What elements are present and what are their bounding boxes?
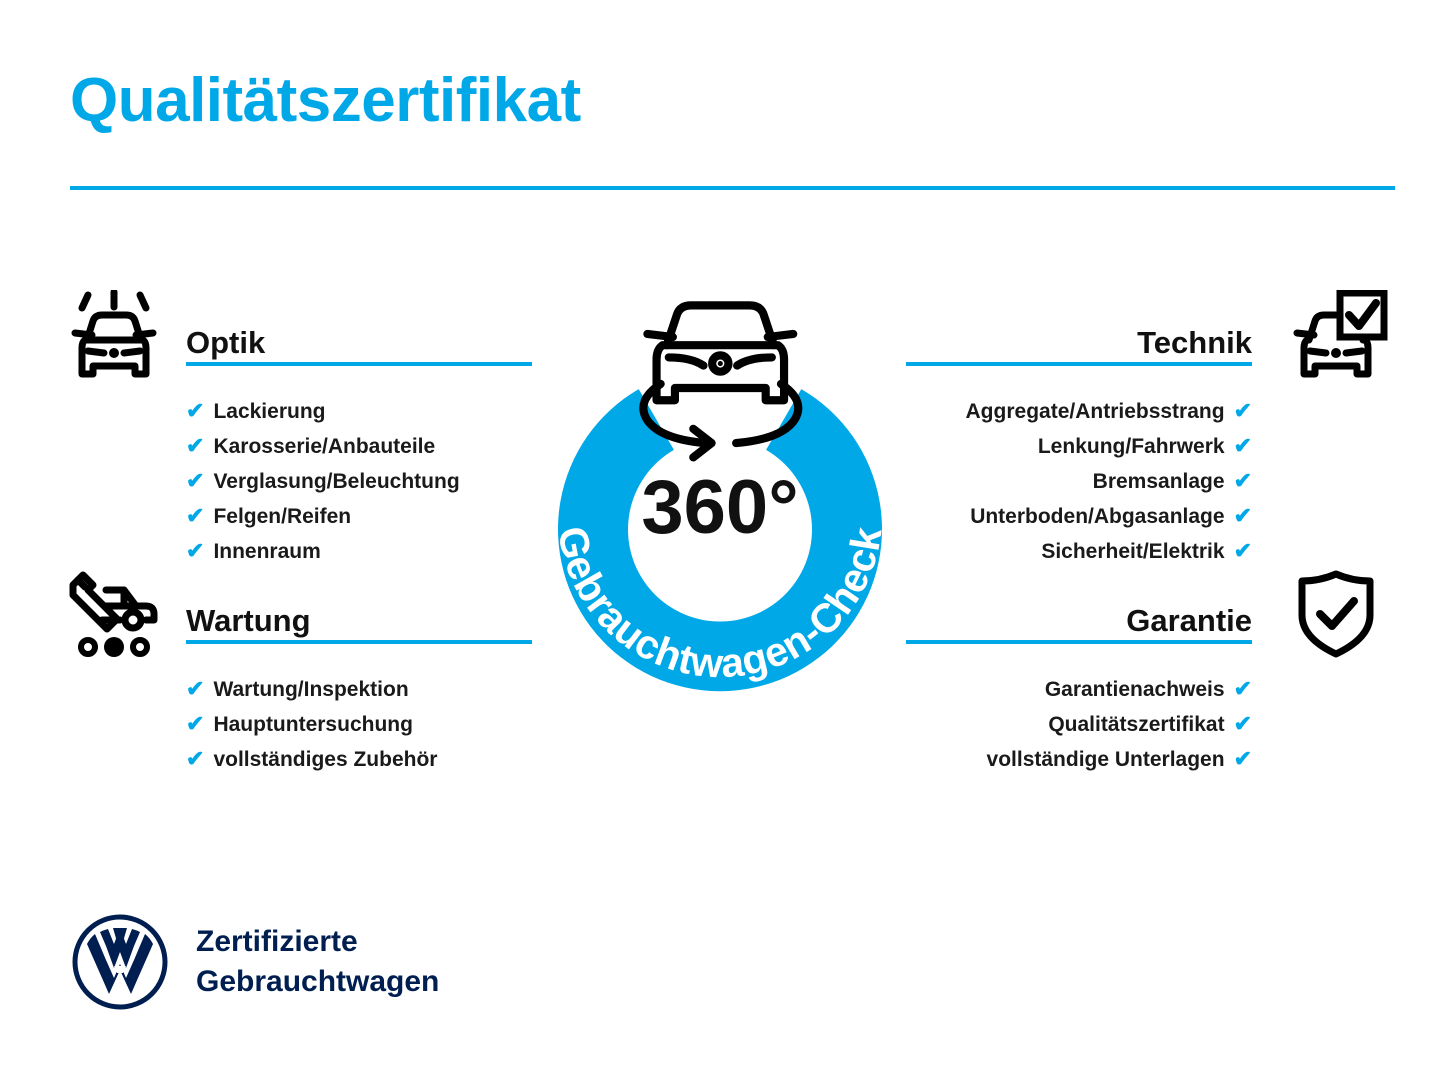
check-item: vollständige Unterlagen ✔ xyxy=(906,742,1252,777)
check-item: ✔ Innenraum xyxy=(186,534,532,569)
badge-center-label: 360° xyxy=(641,465,798,550)
check-icon: ✔ xyxy=(186,429,204,463)
check-icon: ✔ xyxy=(1234,429,1252,463)
header-divider xyxy=(70,186,1395,190)
section-divider xyxy=(906,362,1252,366)
certificate-page: Qualitätszertifikat xyxy=(0,0,1440,1080)
check-item: ✔ vollständiges Zubehör xyxy=(186,742,532,777)
section-optik: Optik ✔ Lackierung ✔ Karosserie/Anbautei… xyxy=(62,290,532,569)
check-item: Aggregate/Antriebsstrang ✔ xyxy=(906,394,1252,429)
page-title: Qualitätszertifikat xyxy=(70,68,581,133)
section-title: Technik xyxy=(1137,327,1252,358)
check-label: Lackierung xyxy=(213,395,325,429)
check-item: Unterboden/Abgasanlage ✔ xyxy=(906,499,1252,534)
check-label: Lenkung/Fahrwerk xyxy=(1038,430,1225,464)
check-list-garantie: Garantienachweis ✔ Qualitätszertifikat ✔… xyxy=(906,672,1388,777)
check-icon: ✔ xyxy=(1234,672,1252,706)
check-item: ✔ Karosserie/Anbauteile xyxy=(186,429,532,464)
section-header-optik: Optik xyxy=(62,290,532,386)
check-label: Innenraum xyxy=(213,535,320,569)
vw-wordmark-line1: Zertifizierte xyxy=(196,922,439,962)
section-divider xyxy=(186,640,532,644)
check-icon: ✔ xyxy=(186,499,204,533)
vw-brand-lockup: Zertifizierte Gebrauchtwagen xyxy=(70,912,439,1012)
section-header-wartung: Wartung xyxy=(62,568,532,664)
check-icon: ✔ xyxy=(1234,394,1252,428)
check-item: Sicherheit/Elektrik ✔ xyxy=(906,534,1252,569)
check-item: Bremsanlage ✔ xyxy=(906,464,1252,499)
check-item: Qualitätszertifikat ✔ xyxy=(906,707,1252,742)
check-list-optik: ✔ Lackierung ✔ Karosserie/Anbauteile ✔ V… xyxy=(62,394,532,569)
check-item: ✔ Wartung/Inspektion xyxy=(186,672,532,707)
check-item: Lenkung/Fahrwerk ✔ xyxy=(906,429,1252,464)
check-icon: ✔ xyxy=(186,707,204,741)
car-service-tool-icon xyxy=(62,568,166,660)
check-icon: ✔ xyxy=(186,742,204,776)
section-garantie: Garantie Garantienachweis ✔ Qualitätszer… xyxy=(906,568,1388,777)
check-list-technik: Aggregate/Antriebsstrang ✔ Lenkung/Fahrw… xyxy=(906,394,1388,569)
section-header-garantie: Garantie xyxy=(906,568,1388,664)
section-title: Garantie xyxy=(1126,605,1252,636)
check-item: ✔ Felgen/Reifen xyxy=(186,499,532,534)
check-icon: ✔ xyxy=(186,534,204,568)
check-label: vollständige Unterlagen xyxy=(987,743,1225,777)
check-item: ✔ Hauptuntersuchung xyxy=(186,707,532,742)
check-icon: ✔ xyxy=(1234,534,1252,568)
check-label: Felgen/Reifen xyxy=(213,500,351,534)
check-label: Garantienachweis xyxy=(1045,673,1225,707)
car-shine-icon xyxy=(62,290,166,382)
check-label: Unterboden/Abgasanlage xyxy=(970,500,1224,534)
check-label: Verglasung/Beleuchtung xyxy=(213,465,459,499)
check-label: Bremsanlage xyxy=(1093,465,1225,499)
vw-wordmark-line2: Gebrauchtwagen xyxy=(196,962,439,1002)
check-icon: ✔ xyxy=(1234,499,1252,533)
check-label: Karosserie/Anbauteile xyxy=(213,430,435,464)
car-rotate-icon xyxy=(643,305,798,457)
section-divider xyxy=(186,362,532,366)
check-item: ✔ Lackierung xyxy=(186,394,532,429)
section-technik: Technik Aggregate/Antriebsstrang ✔ Lenku… xyxy=(906,290,1388,569)
check-item: ✔ Verglasung/Beleuchtung xyxy=(186,464,532,499)
check-icon: ✔ xyxy=(186,464,204,498)
check-icon: ✔ xyxy=(1234,707,1252,741)
section-header-technik: Technik xyxy=(906,290,1388,386)
section-divider xyxy=(906,640,1252,644)
360-check-badge: Gebrauchtwagen-Check 360° xyxy=(520,278,920,698)
check-label: Aggregate/Antriebsstrang xyxy=(966,395,1225,429)
check-item: Garantienachweis ✔ xyxy=(906,672,1252,707)
check-icon: ✔ xyxy=(1234,464,1252,498)
check-icon: ✔ xyxy=(1234,742,1252,776)
check-list-wartung: ✔ Wartung/Inspektion ✔ Hauptuntersuchung… xyxy=(62,672,532,777)
vw-wordmark: Zertifizierte Gebrauchtwagen xyxy=(196,922,439,1002)
section-title: Wartung xyxy=(186,605,311,636)
section-wartung: Wartung ✔ Wartung/Inspektion ✔ Hauptunte… xyxy=(62,568,532,777)
vw-logo-icon xyxy=(70,912,170,1012)
check-label: Sicherheit/Elektrik xyxy=(1041,535,1224,569)
check-label: Wartung/Inspektion xyxy=(213,673,408,707)
shield-check-icon xyxy=(1284,568,1388,660)
car-checkbox-icon xyxy=(1284,290,1388,382)
check-label: Qualitätszertifikat xyxy=(1048,708,1224,742)
check-label: vollständiges Zubehör xyxy=(213,743,437,777)
section-title: Optik xyxy=(186,327,265,358)
check-label: Hauptuntersuchung xyxy=(213,708,413,742)
check-icon: ✔ xyxy=(186,672,204,706)
check-icon: ✔ xyxy=(186,394,204,428)
